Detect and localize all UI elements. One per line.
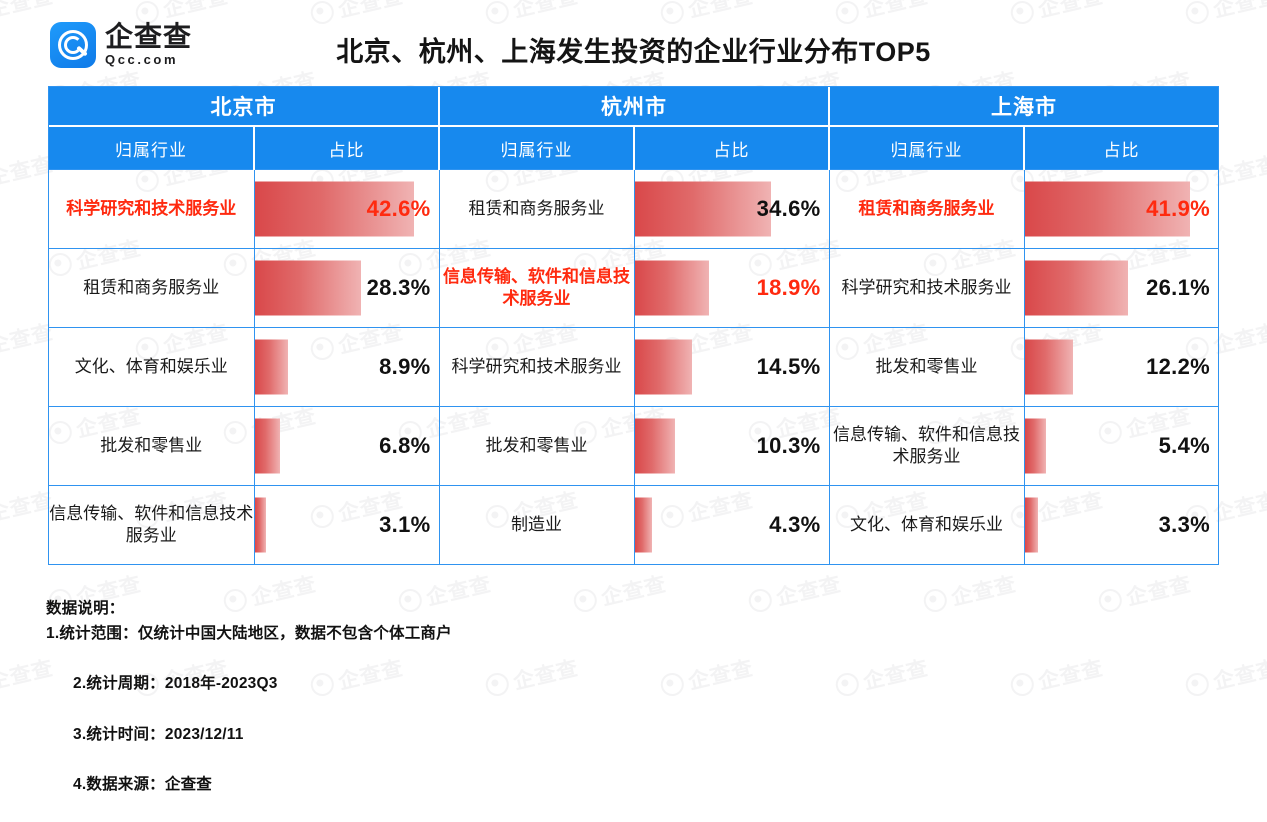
industry-name: 租赁和商务服务业 <box>49 249 254 328</box>
footnote-heading: 数据说明： <box>46 596 452 621</box>
share-cell: 6.8% <box>254 407 439 486</box>
share-cell: 42.6% <box>254 170 439 249</box>
share-bar <box>1025 419 1046 474</box>
col-header-industry-hangzhou: 归属行业 <box>439 126 634 170</box>
share-bar <box>1025 340 1073 395</box>
industry-name: 科学研究和技术服务业 <box>829 249 1024 328</box>
share-bar <box>635 498 652 553</box>
share-value: 10.3% <box>757 433 821 459</box>
industry-name: 文化、体育和娱乐业 <box>829 486 1024 565</box>
share-bar <box>255 261 361 316</box>
col-header-share-hangzhou: 占比 <box>634 126 829 170</box>
city-header-beijing: 北京市 <box>49 87 439 126</box>
industry-distribution-table: 北京市 杭州市 上海市 归属行业 占比 归属行业 占比 归属行业 占比 科学研究… <box>48 86 1219 565</box>
industry-name: 租赁和商务服务业 <box>439 170 634 249</box>
share-bar <box>635 340 692 395</box>
page-header: 企查查 Qcc.com 北京、杭州、上海发生投资的企业行业分布TOP5 <box>0 0 1267 86</box>
table-row: 信息传输、软件和信息技术服务业3.1%制造业4.3%文化、体育和娱乐业3.3% <box>49 486 1218 565</box>
share-bar <box>635 182 772 237</box>
table-row: 文化、体育和娱乐业8.9%科学研究和技术服务业14.5%批发和零售业12.2% <box>49 328 1218 407</box>
industry-name: 批发和零售业 <box>49 407 254 486</box>
industry-name: 信息传输、软件和信息技术服务业 <box>49 486 254 565</box>
share-bar <box>1025 261 1128 316</box>
share-value: 14.5% <box>757 354 821 380</box>
column-header-row: 归属行业 占比 归属行业 占比 归属行业 占比 <box>49 126 1218 170</box>
share-bar <box>255 419 281 474</box>
share-cell: 3.1% <box>254 486 439 565</box>
share-value: 41.9% <box>1146 196 1210 222</box>
industry-name: 科学研究和技术服务业 <box>439 328 634 407</box>
city-header-row: 北京市 杭州市 上海市 <box>49 87 1218 126</box>
table-row: 批发和零售业6.8%批发和零售业10.3%信息传输、软件和信息技术服务业5.4% <box>49 407 1218 486</box>
page-title: 北京、杭州、上海发生投资的企业行业分布TOP5 <box>0 30 1267 69</box>
table-row: 租赁和商务服务业28.3%信息传输、软件和信息技术服务业18.9%科学研究和技术… <box>49 249 1218 328</box>
footnote-meta: 2.统计周期：2018年-2023Q3 3.统计时间：2023/12/11 4.… <box>46 646 452 822</box>
footnotes: 数据说明： 1.统计范围：仅统计中国大陆地区，数据不包含个体工商户 2.统计周期… <box>46 596 452 822</box>
share-cell: 14.5% <box>634 328 829 407</box>
share-cell: 5.4% <box>1024 407 1218 486</box>
share-cell: 41.9% <box>1024 170 1218 249</box>
col-header-industry-shanghai: 归属行业 <box>829 126 1024 170</box>
col-header-share-shanghai: 占比 <box>1024 126 1218 170</box>
share-bar <box>255 340 288 395</box>
share-cell: 8.9% <box>254 328 439 407</box>
share-value: 4.3% <box>769 512 820 538</box>
share-value: 28.3% <box>367 275 431 301</box>
share-value: 34.6% <box>757 196 821 222</box>
city-header-shanghai: 上海市 <box>829 87 1218 126</box>
share-cell: 3.3% <box>1024 486 1218 565</box>
share-bar <box>635 261 710 316</box>
share-bar <box>635 419 676 474</box>
share-cell: 34.6% <box>634 170 829 249</box>
share-value: 5.4% <box>1159 433 1210 459</box>
share-cell: 4.3% <box>634 486 829 565</box>
share-cell: 28.3% <box>254 249 439 328</box>
share-cell: 18.9% <box>634 249 829 328</box>
footnote-stat-time: 3.统计时间：2023/12/11 <box>73 726 244 743</box>
industry-name: 批发和零售业 <box>829 328 1024 407</box>
col-header-industry-beijing: 归属行业 <box>49 126 254 170</box>
industry-name: 科学研究和技术服务业 <box>49 170 254 249</box>
footnote-scope: 1.统计范围：仅统计中国大陆地区，数据不包含个体工商户 <box>46 621 452 646</box>
share-value: 26.1% <box>1146 275 1210 301</box>
share-cell: 12.2% <box>1024 328 1218 407</box>
industry-name: 信息传输、软件和信息技术服务业 <box>829 407 1024 486</box>
industry-name: 信息传输、软件和信息技术服务业 <box>439 249 634 328</box>
footnote-source: 4.数据来源：企查查 <box>73 776 212 793</box>
share-value: 42.6% <box>367 196 431 222</box>
table-body: 科学研究和技术服务业42.6%租赁和商务服务业34.6%租赁和商务服务业41.9… <box>49 170 1218 565</box>
share-value: 3.1% <box>379 512 430 538</box>
share-value: 6.8% <box>379 433 430 459</box>
industry-name: 批发和零售业 <box>439 407 634 486</box>
industry-name: 租赁和商务服务业 <box>829 170 1024 249</box>
footnote-period: 2.统计周期：2018年-2023Q3 <box>73 675 278 692</box>
table-row: 科学研究和技术服务业42.6%租赁和商务服务业34.6%租赁和商务服务业41.9… <box>49 170 1218 249</box>
share-bar <box>1025 498 1038 553</box>
col-header-share-beijing: 占比 <box>254 126 439 170</box>
share-value: 3.3% <box>1159 512 1210 538</box>
share-value: 12.2% <box>1146 354 1210 380</box>
industry-name: 制造业 <box>439 486 634 565</box>
share-bar <box>255 498 267 553</box>
share-value: 8.9% <box>379 354 430 380</box>
share-cell: 10.3% <box>634 407 829 486</box>
share-cell: 26.1% <box>1024 249 1218 328</box>
city-header-hangzhou: 杭州市 <box>439 87 829 126</box>
share-value: 18.9% <box>757 275 821 301</box>
industry-name: 文化、体育和娱乐业 <box>49 328 254 407</box>
